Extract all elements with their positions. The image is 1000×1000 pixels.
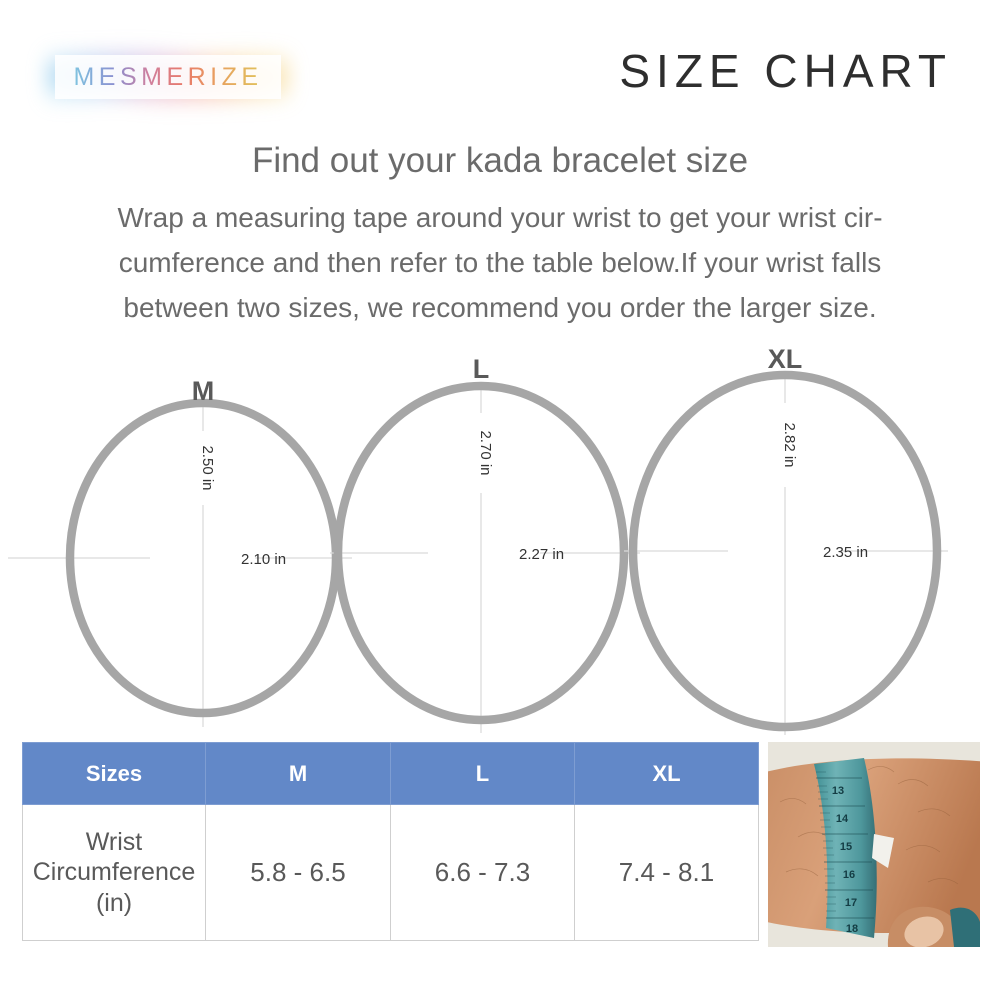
- cell-wrist-xl: 7.4 - 8.1: [575, 805, 759, 941]
- oval-width-label-l: 2.27 in: [519, 546, 564, 563]
- oval-label-l: L: [473, 354, 490, 384]
- oval-diagram-m: M 2.50 in 2.10 in: [8, 376, 352, 727]
- oval-label-xl: XL: [768, 345, 803, 374]
- intro-line: between two sizes, we recommend you orde…: [48, 285, 952, 330]
- intro-line: cumference and then refer to the table b…: [48, 240, 952, 285]
- row-label-line: Circumference: [23, 857, 205, 888]
- tape-number: 18: [846, 923, 858, 935]
- cell-wrist-l: 6.6 - 7.3: [391, 805, 575, 941]
- tape-number: 16: [843, 869, 855, 881]
- intro-line: Wrap a measuring tape around your wrist …: [48, 195, 952, 240]
- tape-number: 17: [845, 897, 857, 909]
- table-header-xl: XL: [575, 743, 759, 805]
- tape-number: 13: [832, 785, 844, 797]
- oval-diagram-xl: XL 2.82 in 2.35 in: [624, 345, 948, 735]
- row-label-wrist-circumference: Wrist Circumference (in): [23, 805, 206, 941]
- oval-height-label-xl: 2.82 in: [781, 422, 798, 467]
- oval-label-m: M: [192, 376, 215, 406]
- logo-plate: MESMERIZE: [55, 55, 281, 99]
- oval-width-label-m: 2.10 in: [241, 551, 286, 568]
- row-label-line: Wrist: [23, 827, 205, 858]
- table-header-row: Sizes M L XL: [23, 743, 759, 805]
- intro-heading: Find out your kada bracelet size: [48, 140, 952, 183]
- table-header-m: M: [206, 743, 391, 805]
- table-row: Wrist Circumference (in) 5.8 - 6.5 6.6 -…: [23, 805, 759, 941]
- brand-name: MESMERIZE: [73, 63, 262, 92]
- table-header-sizes: Sizes: [23, 743, 206, 805]
- oval-diagram-l: L 2.70 in 2.27 in: [330, 354, 640, 733]
- table-header-l: L: [391, 743, 575, 805]
- page-title: SIZE CHART: [619, 44, 952, 98]
- wrist-measurement-photo: 13 14 15 16 17 18: [768, 742, 980, 947]
- intro-paragraph: Wrap a measuring tape around your wrist …: [48, 195, 952, 331]
- bracelet-size-diagrams: M 2.50 in 2.10 in L 2.70 in 2.27 in XL 2…: [0, 345, 1000, 745]
- oval-height-label-m: 2.50 in: [199, 445, 216, 490]
- cell-wrist-m: 5.8 - 6.5: [206, 805, 391, 941]
- oval-height-label-l: 2.70 in: [477, 430, 494, 475]
- tape-number: 15: [840, 841, 852, 853]
- tape-number: 14: [836, 813, 849, 825]
- size-chart-table: Sizes M L XL Wrist Circumference (in) 5.…: [22, 742, 759, 941]
- row-label-line: (in): [23, 888, 205, 919]
- intro-block: Find out your kada bracelet size Wrap a …: [48, 140, 952, 331]
- oval-width-label-xl: 2.35 in: [823, 544, 868, 561]
- brand-logo: MESMERIZE: [46, 46, 290, 108]
